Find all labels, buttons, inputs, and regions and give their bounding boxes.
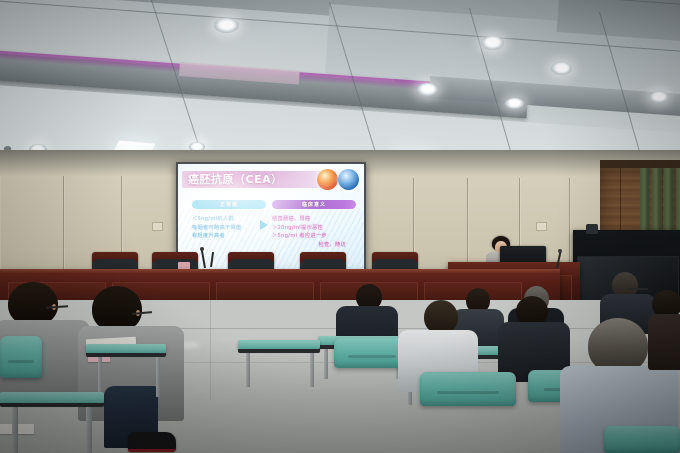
microphone-head [558,249,562,253]
audience-chair [420,372,516,406]
light-switch[interactable] [536,222,547,231]
conference-room-photo: 癌胚抗原（CEA） 正常值 ＜5ng/ml的人群 吸烟者可略高于常值 有轻度升高… [0,0,680,453]
audience-desk [86,344,166,357]
eyeglasses [132,311,152,314]
attendee-head [424,300,458,334]
audience-chair [0,336,42,378]
desk-leg [324,349,328,379]
audience-desk [0,392,104,407]
ceiling-downlight [505,98,524,109]
ceiling-downlight [551,62,572,75]
ceiling-downlight [481,36,504,50]
cabinet-top-device [586,224,598,234]
desk-leg [156,357,160,397]
desk-leg [246,353,250,387]
attendee-shoe [128,432,176,452]
desk-leg [86,407,92,453]
audience-chair [604,426,680,453]
attendee-torso [648,314,680,370]
ceiling-downlight [649,91,669,103]
desk-leg [310,353,314,387]
ceiling-downlight [214,18,239,33]
light-switch[interactable] [152,222,163,231]
microphone-head [200,247,204,251]
curtain-rail [600,160,680,168]
ceiling-downlight [417,83,438,96]
desk-leg [12,407,18,453]
desk-leg [98,357,102,397]
eyeglasses [628,288,648,290]
audience-desk [238,340,320,353]
attendee [648,290,680,370]
